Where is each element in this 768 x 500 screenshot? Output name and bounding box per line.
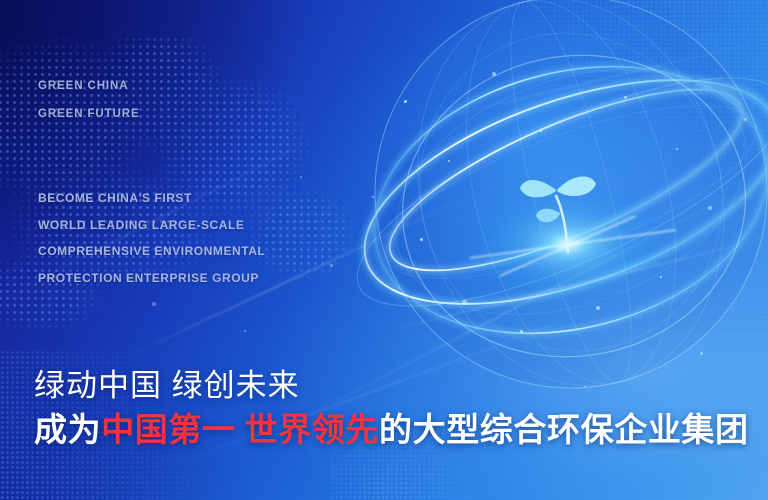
hero-banner: GREEN CHINA GREEN FUTURE BECOME CHINA'S … xyxy=(0,0,768,500)
headline-prefix: 成为 xyxy=(34,411,101,448)
mission-line-1: BECOME CHINA'S FIRST xyxy=(38,185,265,212)
headline-chinese: 绿动中国 绿创未来 成为中国第一世界领先的大型综合环保企业集团 xyxy=(34,366,749,454)
mission-line-4: PROTECTION ENTERPRISE GROUP xyxy=(38,265,265,292)
headline-suffix: 的大型综合环保企业集团 xyxy=(379,411,749,448)
tagline-line-1: GREEN CHINA xyxy=(38,72,140,100)
mission-line-2: WORLD LEADING LARGE-SCALE xyxy=(38,212,265,239)
headline-line-1: 绿动中国 绿创未来 xyxy=(34,366,749,406)
headline-highlight-world-leading: 世界领先 xyxy=(245,411,379,448)
tagline-english: GREEN CHINA GREEN FUTURE xyxy=(38,72,140,128)
mission-statement-english: BECOME CHINA'S FIRST WORLD LEADING LARGE… xyxy=(38,185,265,291)
headline-highlight-china-first: 中国第一 xyxy=(101,411,235,448)
tagline-line-2: GREEN FUTURE xyxy=(38,100,140,128)
mission-line-3: COMPREHENSIVE ENVIRONMENTAL xyxy=(38,238,265,265)
headline-line-2: 成为中国第一世界领先的大型综合环保企业集团 xyxy=(34,406,749,454)
